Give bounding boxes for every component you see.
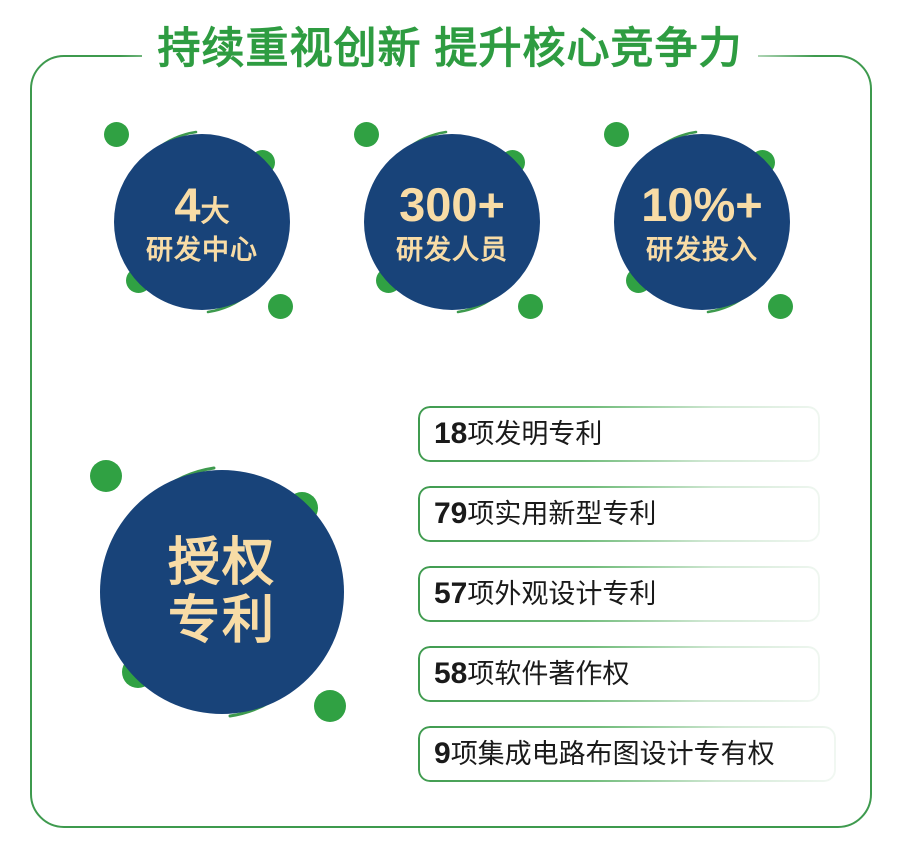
accent-dot-se xyxy=(518,294,543,319)
list-item[interactable]: 57项外观设计专利 xyxy=(418,566,820,622)
list-item-text: 79项实用新型专利 xyxy=(434,499,656,529)
page-title: 持续重视创新 提升核心竞争力 xyxy=(0,20,900,78)
badge-value: 4大 xyxy=(174,181,229,228)
infographic-canvas: 持续重视创新 提升核心竞争力 4大 研发中心 xyxy=(0,0,900,855)
accent-dot-nw xyxy=(90,460,122,492)
badge-label: 研发投入 xyxy=(646,237,758,264)
list-item-number: 58 xyxy=(434,657,467,690)
list-item-label: 项软件著作权 xyxy=(467,659,629,689)
badge-value: 10%+ xyxy=(641,181,763,228)
badge-label: 研发中心 xyxy=(146,237,258,264)
accent-dot-nw xyxy=(604,122,629,147)
badge-label-line1: 授权 xyxy=(168,534,276,592)
badge-disc: 10%+ 研发投入 xyxy=(614,134,790,310)
badge-disc: 授权 专利 xyxy=(100,470,344,714)
badge-label: 研发人员 xyxy=(396,237,508,264)
list-item[interactable]: 9项集成电路布图设计专有权 xyxy=(418,726,836,782)
list-item-label: 项发明专利 xyxy=(467,419,602,449)
list-item[interactable]: 18项发明专利 xyxy=(418,406,820,462)
list-item-text: 9项集成电路布图设计专有权 xyxy=(434,739,775,769)
list-item[interactable]: 58项软件著作权 xyxy=(418,646,820,702)
badge-disc: 300+ 研发人员 xyxy=(364,134,540,310)
patent-list: 18项发明专利 79项实用新型专利 57项外观设计专利 58项软件著作权 9项集… xyxy=(418,406,836,806)
badge-rd-centers: 4大 研发中心 xyxy=(92,112,312,332)
badge-value: 300+ xyxy=(399,181,505,228)
accent-dot-se xyxy=(268,294,293,319)
badge-rd-investment: 10%+ 研发投入 xyxy=(592,112,812,332)
list-item-number: 79 xyxy=(434,497,467,530)
list-item-text: 18项发明专利 xyxy=(434,419,602,449)
list-item-number: 9 xyxy=(434,737,451,770)
badge-rd-staff: 300+ 研发人员 xyxy=(342,112,562,332)
page-title-text: 持续重视创新 提升核心竞争力 xyxy=(142,20,759,78)
list-item-number: 57 xyxy=(434,577,467,610)
accent-dot-se xyxy=(768,294,793,319)
badge-disc: 4大 研发中心 xyxy=(114,134,290,310)
list-item-text: 57项外观设计专利 xyxy=(434,579,656,609)
accent-dot-nw xyxy=(354,122,379,147)
list-item-label: 项实用新型专利 xyxy=(467,499,656,529)
list-item[interactable]: 79项实用新型专利 xyxy=(418,486,820,542)
list-item-label: 项集成电路布图设计专有权 xyxy=(451,739,775,769)
accent-dot-nw xyxy=(104,122,129,147)
list-item-text: 58项软件著作权 xyxy=(434,659,629,689)
list-item-label: 项外观设计专利 xyxy=(467,579,656,609)
list-item-number: 18 xyxy=(434,417,467,450)
badge-label-line2: 专利 xyxy=(168,592,276,650)
badge-granted-patents: 授权 专利 xyxy=(72,442,372,742)
accent-dot-se xyxy=(314,690,346,722)
